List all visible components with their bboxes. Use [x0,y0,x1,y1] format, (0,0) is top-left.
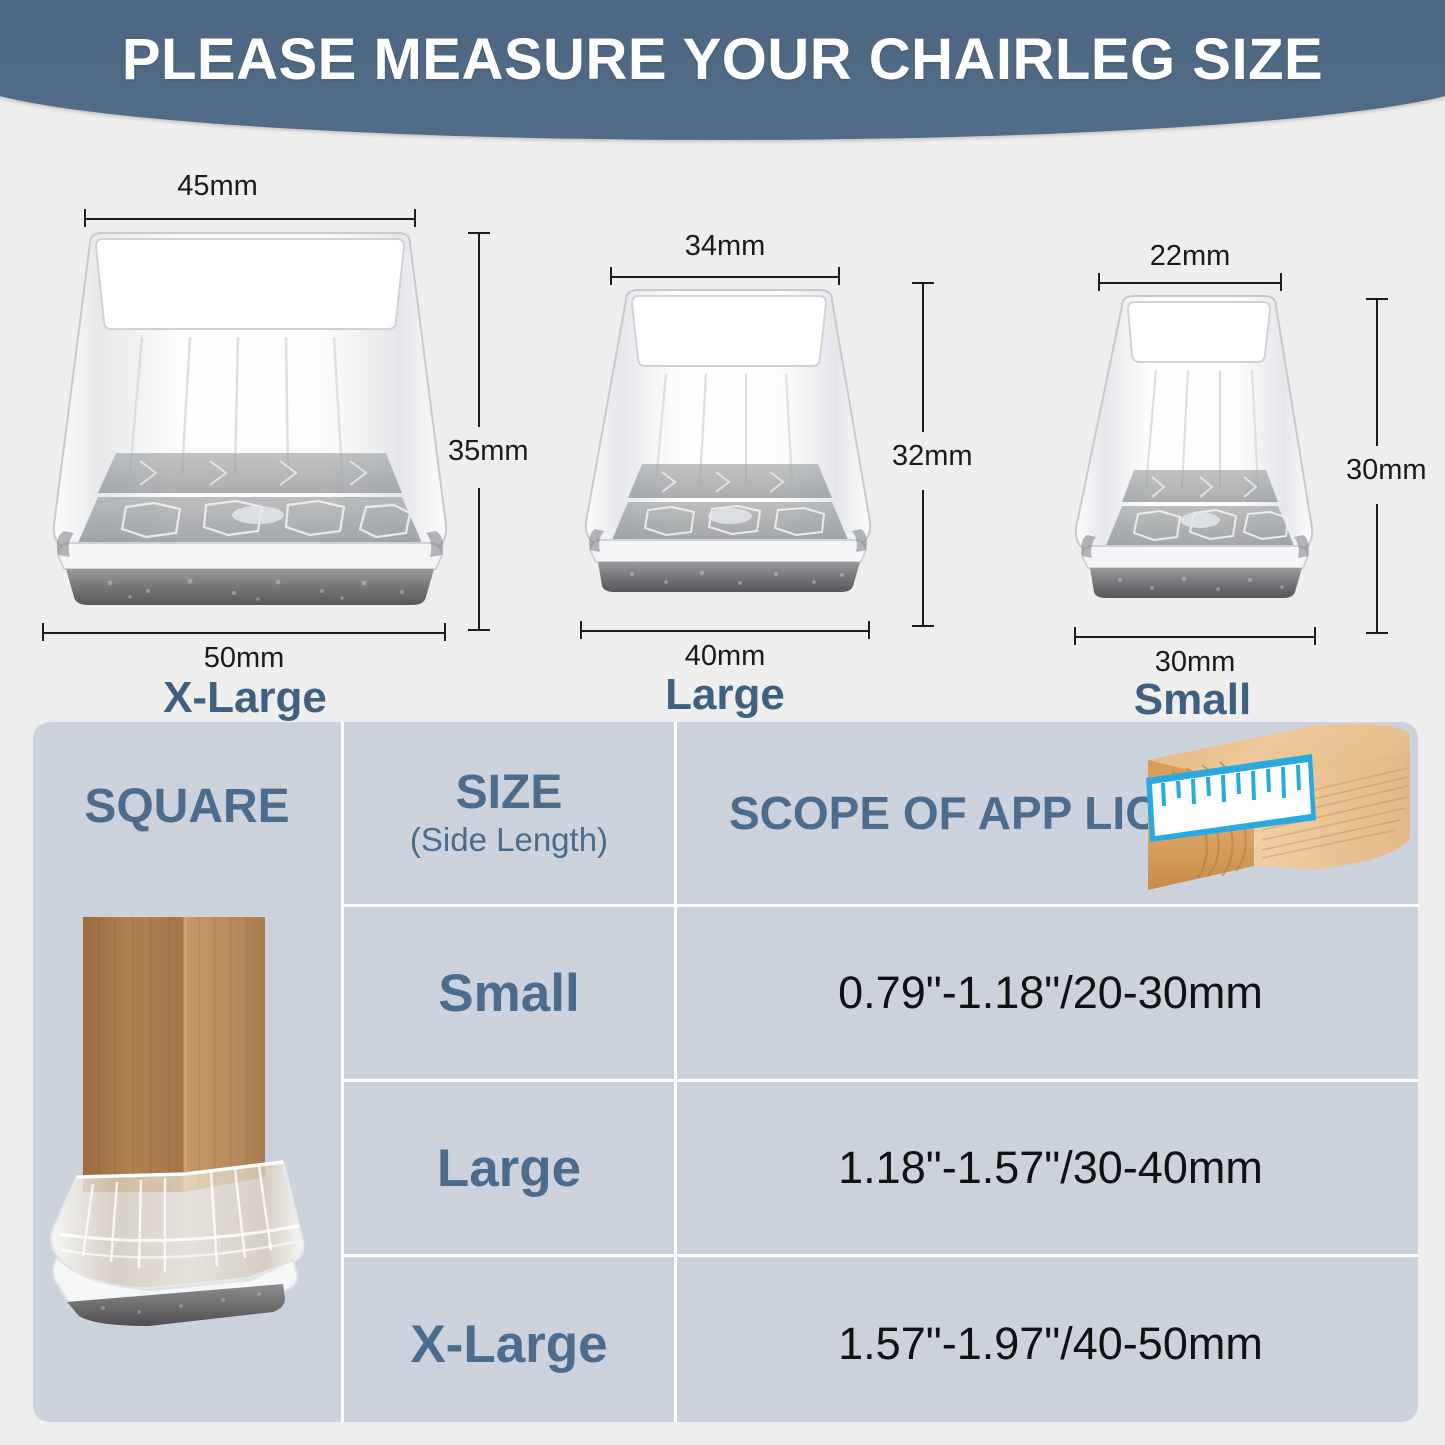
table-row: 1.57"-1.97"/40-50mm [677,1257,1418,1422]
page-title: PLEASE MEASURE YOUR CHAIRLEG SIZE [0,0,1445,118]
dimension-label-height-xlarge: 35mm [448,435,529,468]
dimension-line-bottom-small [1074,636,1316,638]
dimension-line-height-upper-large [922,282,924,432]
table-header-size: SIZE (Side Length) [410,768,608,857]
chairleg-illustration [33,722,341,1422]
product-card-xlarge: 45mm [20,170,540,715]
dimension-label-top-xlarge: 45mm [20,170,415,203]
table-row: X-Large [344,1257,674,1422]
dimension-line-top-large [610,276,840,278]
dimension-line-height-upper-small [1376,298,1378,446]
dimension-cap-bottom-right-large [868,621,870,639]
dimension-cap-bottom-left-xlarge [42,623,44,641]
dimension-label-height-small: 30mm [1346,454,1427,487]
dimension-cap-height-bottom-xlarge [468,629,490,631]
product-label-small: Small [1050,675,1335,725]
dimension-cap-bottom-left-small [1074,627,1076,645]
spec-table: SQUARE [33,722,1418,1422]
dimension-label-bottom-large: 40mm [580,640,870,673]
header-banner: PLEASE MEASURE YOUR CHAIRLEG SIZE [0,0,1445,150]
dimension-line-top-xlarge [84,218,416,220]
table-row: Large [344,1082,674,1254]
table-cell-scope: 0.79"-1.18"/20-30mm [838,967,1263,1019]
dimension-line-bottom-xlarge [42,632,446,634]
table-row: 1.18"-1.57"/30-40mm [677,1082,1418,1254]
dimension-label-top-large: 34mm [560,230,890,263]
dimension-label-top-small: 22mm [1050,240,1330,273]
dimension-cap-bottom-left-large [580,621,582,639]
table-cell-size: X-Large [410,1314,607,1375]
product-card-small: 22mm [1050,240,1445,720]
table-cell-shape-illustration: SQUARE [33,722,341,1422]
dimension-cap-height-bottom-large [912,625,934,627]
furniture-cup-xlarge [30,225,470,625]
table-cell-scope: 1.57"-1.97"/40-50mm [838,1318,1263,1370]
dimension-line-height-lower-xlarge [478,488,480,631]
product-label-xlarge: X-Large [20,673,470,723]
product-showcase: 45mm [0,150,1445,715]
wood-block-ruler-icon [1134,722,1418,902]
table-cell-size: Large [437,1138,581,1199]
table-header-size-main: SIZE [456,766,563,819]
dimension-line-height-lower-large [922,490,924,627]
dimension-line-height-upper-xlarge [478,232,480,427]
table-header-size-cell: SIZE (Side Length) [344,722,674,904]
table-row: 0.79"-1.18"/20-30mm [677,907,1418,1079]
dimension-line-bottom-large [580,630,870,632]
dimension-cap-bottom-right-small [1314,627,1316,645]
dimension-label-bottom-xlarge: 50mm [42,642,446,675]
dimension-cap-height-bottom-small [1366,632,1388,634]
table-header-scope-cell: SCOPE OF APP LICATION [677,722,1418,904]
product-label-large: Large [560,670,890,720]
table-cell-scope: 1.18"-1.57"/30-40mm [838,1142,1263,1194]
dimension-cap-bottom-right-xlarge [444,623,446,641]
table-header-size-sub: (Side Length) [410,823,608,858]
dimension-line-top-small [1098,282,1282,284]
product-card-large: 34mm [560,230,1020,720]
table-row: Small [344,907,674,1079]
table-cell-size: Small [438,963,579,1024]
furniture-cup-large [570,282,900,612]
dimension-line-height-lower-small [1376,504,1378,634]
furniture-cup-small [1060,288,1340,608]
dimension-label-height-large: 32mm [892,440,973,473]
